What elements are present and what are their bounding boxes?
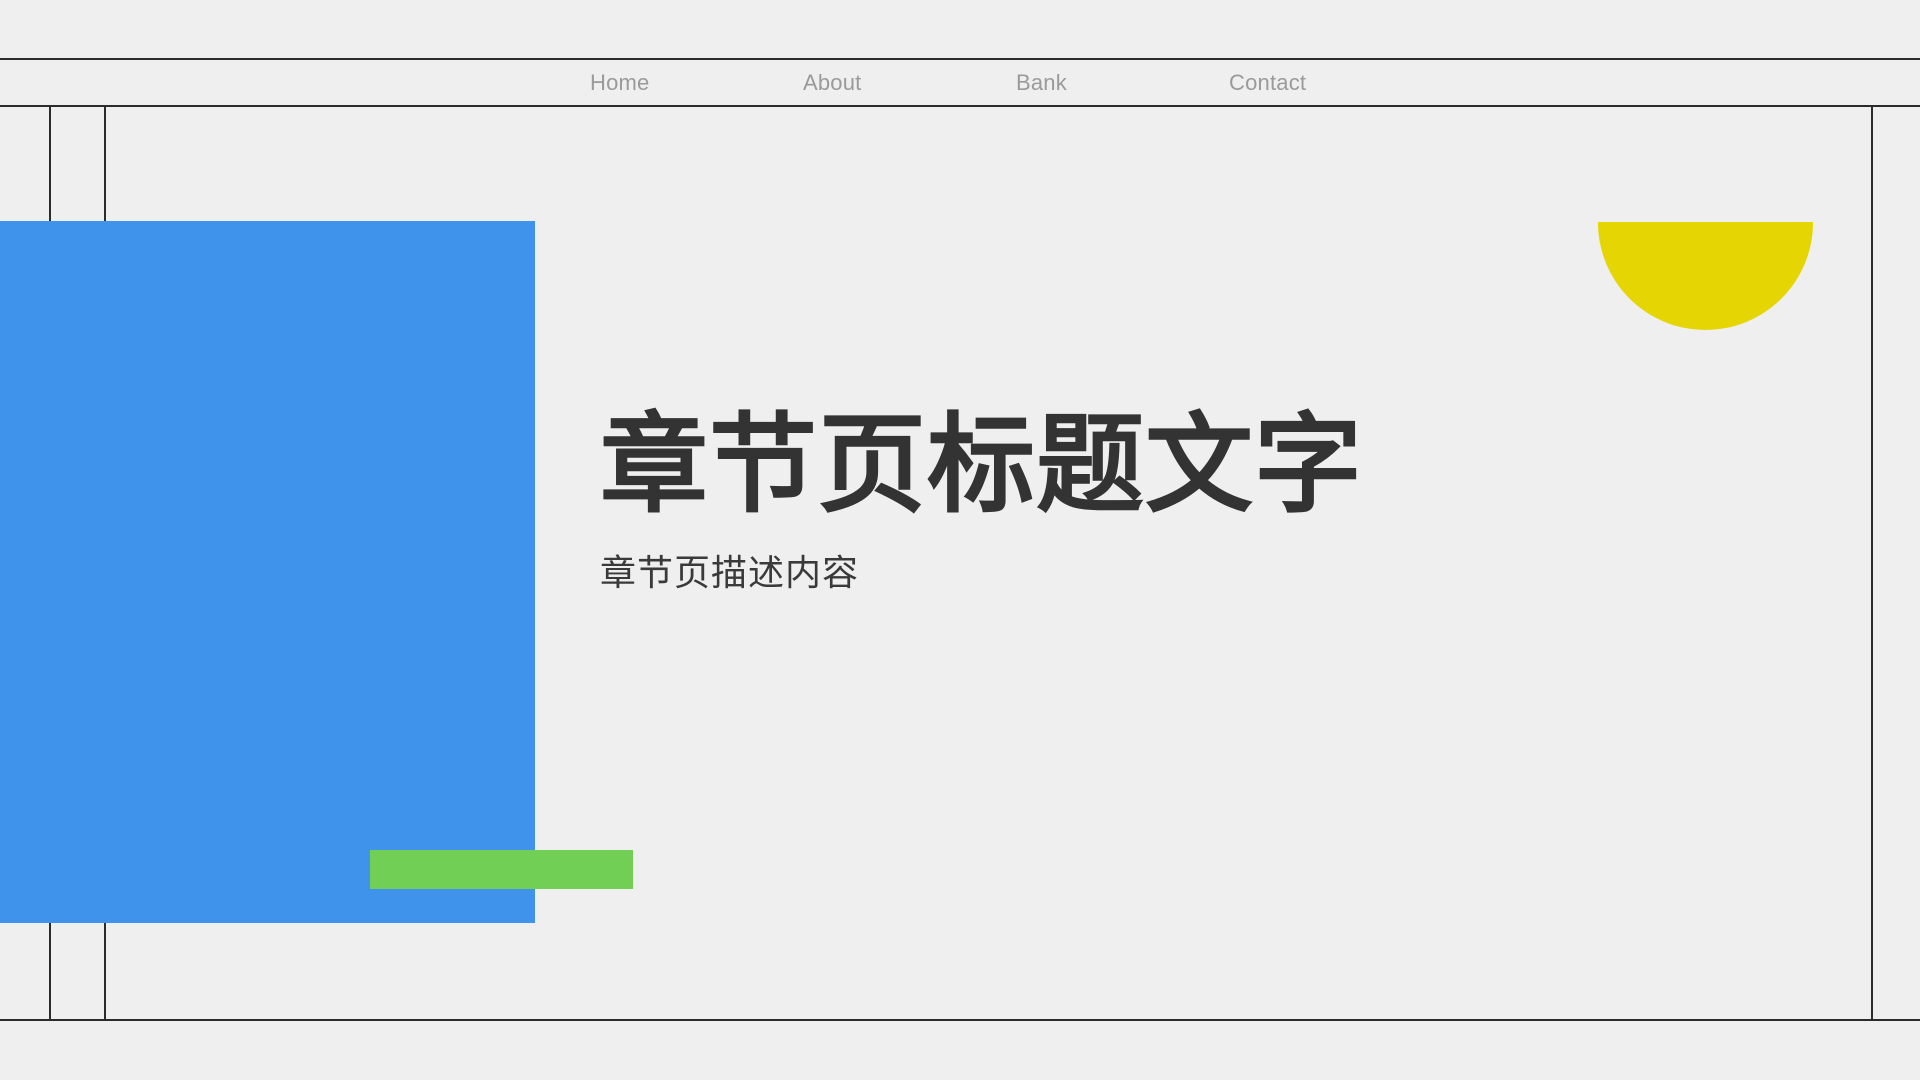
- guide-line-bottom: [0, 1019, 1920, 1021]
- nav-item-about[interactable]: About: [803, 72, 1016, 94]
- guide-line-right: [1871, 107, 1873, 1021]
- blue-rectangle-decoration: [0, 221, 535, 923]
- nav-item-home[interactable]: Home: [590, 72, 803, 94]
- page-subtitle: 章节页描述内容: [600, 521, 1700, 594]
- slide-canvas: Home About Bank Contact 章节页标题文字 章节页描述内容: [0, 0, 1920, 1080]
- top-navigation-bar: Home About Bank Contact: [0, 58, 1920, 107]
- green-bar-decoration: [370, 850, 633, 889]
- nav-item-list: Home About Bank Contact: [590, 72, 1442, 94]
- yellow-semicircle-decoration: [1598, 222, 1813, 330]
- page-title: 章节页标题文字: [600, 408, 1700, 521]
- headline-block: 章节页标题文字 章节页描述内容: [600, 408, 1700, 595]
- nav-item-contact[interactable]: Contact: [1229, 72, 1442, 94]
- nav-item-bank[interactable]: Bank: [1016, 72, 1229, 94]
